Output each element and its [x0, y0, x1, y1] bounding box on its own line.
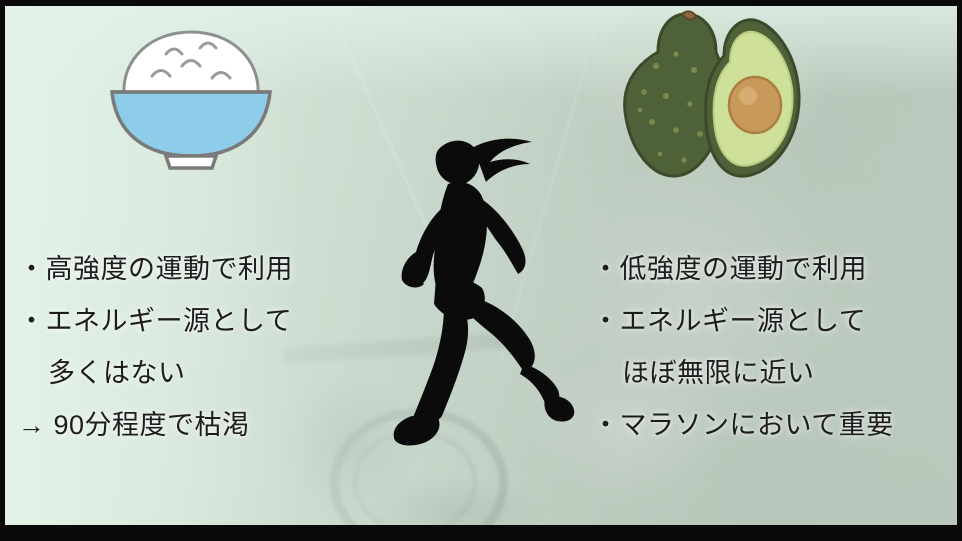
slide-frame-bottom	[0, 525, 962, 541]
right-line-4: ・マラソンにおいて重要	[592, 399, 894, 451]
slide-frame-right	[957, 0, 962, 541]
right-line-3: ほぼ無限に近い	[592, 347, 894, 399]
left-line-1: ・高強度の運動で利用	[18, 243, 293, 295]
slide: ・高強度の運動で利用 ・エネルギー源として 多くはない → 90分程度で枯渇 ・…	[0, 0, 962, 541]
rice-bowl-icon	[96, 16, 286, 176]
left-line-3: 多くはない	[18, 347, 293, 399]
right-line-2: ・エネルギー源として	[592, 295, 894, 347]
left-text-column: ・高強度の運動で利用 ・エネルギー源として 多くはない → 90分程度で枯渇	[18, 243, 293, 451]
right-line-1: ・低強度の運動で利用	[592, 243, 894, 295]
slide-frame-left	[0, 0, 5, 541]
slide-frame-top	[0, 0, 962, 6]
runner-silhouette	[372, 128, 602, 458]
left-line-4: → 90分程度で枯渇	[18, 399, 293, 451]
right-text-column: ・低強度の運動で利用 ・エネルギー源として ほぼ無限に近い ・マラソンにおいて重…	[592, 243, 894, 451]
left-line-2: ・エネルギー源として	[18, 295, 293, 347]
avocado-icon	[598, 8, 808, 203]
